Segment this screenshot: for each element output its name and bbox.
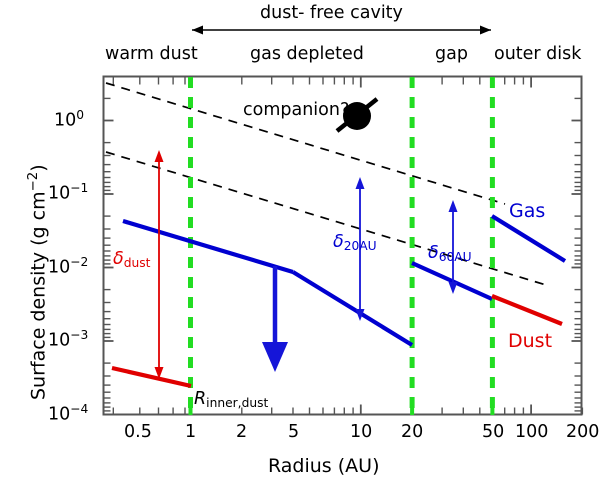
gas-segment-gap <box>412 263 492 299</box>
ytick-label-2: 10−2 <box>48 255 88 278</box>
xtick-label-2: 2 <box>236 422 247 442</box>
lower-dashed-line <box>106 152 546 285</box>
xtick-label-1: 1 <box>185 422 196 442</box>
region-label-gas-depleted: gas depleted <box>250 44 364 64</box>
gas-segment-depleted <box>293 272 412 345</box>
dust-segment-warm <box>112 368 191 386</box>
y-axis-ticks <box>104 98 582 414</box>
delta-20au-label: δ20AU <box>333 232 377 253</box>
delta-60au-label: δ60AU <box>428 243 472 264</box>
xtick-label-6: 50 <box>482 422 504 442</box>
y-axis-title: Surface density (g cm−2) <box>26 164 49 400</box>
xtick-label-5: 20 <box>401 422 423 442</box>
xtick-label-3: 5 <box>288 422 299 442</box>
depletion-arrow <box>262 266 288 372</box>
x-axis-title: Radius (AU) <box>268 455 379 477</box>
delta-dust-arrow <box>155 150 164 379</box>
cavity-arrow <box>192 26 491 35</box>
ytick-label-1: 10−1 <box>48 181 88 204</box>
xtick-label-0: 0.5 <box>124 422 152 442</box>
plot-svg <box>0 0 600 484</box>
ytick-label-3: 10−3 <box>48 328 88 351</box>
dust-segment-outer <box>492 296 562 324</box>
series-label-dust: Dust <box>508 330 552 352</box>
r-inner-dust-label: Rinner,dust <box>194 389 268 410</box>
figure-canvas: dust- free cavity warm dust gas depleted… <box>0 0 600 484</box>
companion-label: companion? <box>243 100 349 120</box>
series-label-gas: Gas <box>509 200 545 222</box>
ytick-label-0: 100 <box>54 108 84 131</box>
xtick-label-8: 200 <box>566 422 599 442</box>
xtick-label-7: 100 <box>515 422 548 442</box>
ytick-label-4: 10−4 <box>48 402 88 425</box>
delta-dust-label: δdust <box>113 249 150 270</box>
xtick-label-4: 10 <box>350 422 372 442</box>
region-label-warm-dust: warm dust <box>105 44 198 64</box>
marker-top-ticks <box>191 77 493 88</box>
gas-segment-outer <box>492 216 565 261</box>
cavity-label: dust- free cavity <box>260 3 403 23</box>
region-label-outer-disk: outer disk <box>494 44 581 64</box>
region-label-gap: gap <box>435 44 468 64</box>
